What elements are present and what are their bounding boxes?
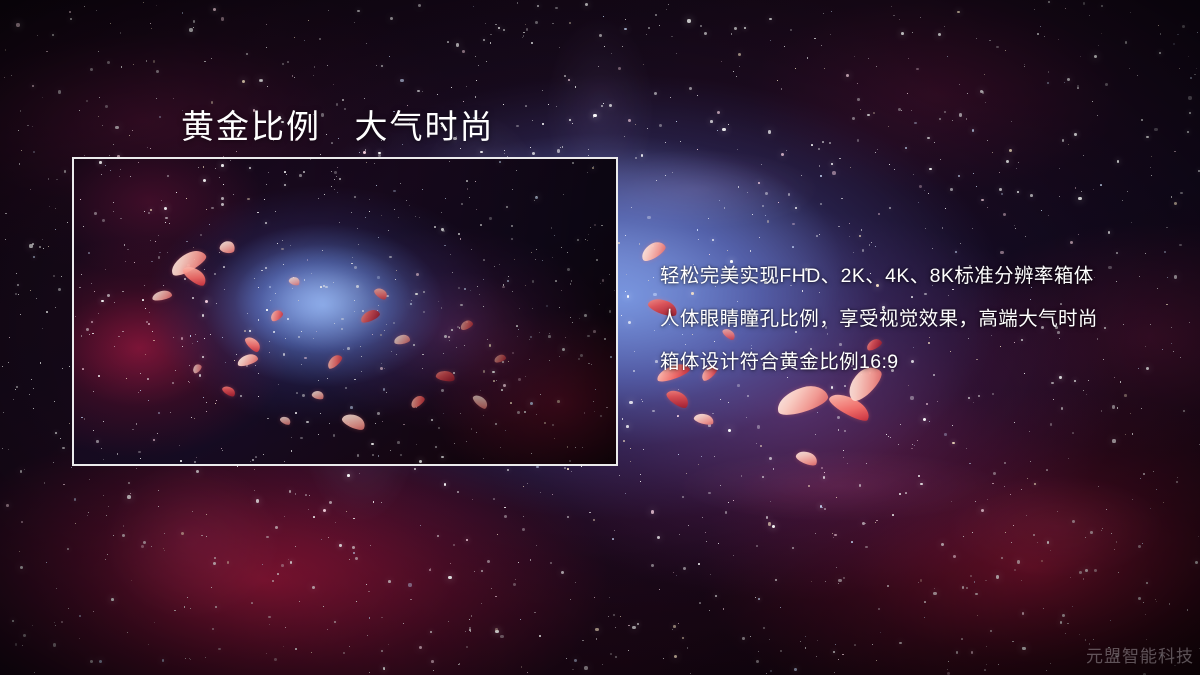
star <box>46 311 48 313</box>
star <box>635 124 636 125</box>
star <box>185 658 186 659</box>
star <box>663 658 664 659</box>
star <box>841 198 842 199</box>
star <box>814 38 815 39</box>
star <box>1199 444 1200 445</box>
star <box>542 123 543 124</box>
star <box>914 122 917 125</box>
star <box>818 148 820 150</box>
star <box>817 412 818 413</box>
star <box>1137 75 1138 76</box>
star <box>1075 187 1077 189</box>
star <box>19 551 20 552</box>
star <box>947 669 948 670</box>
star <box>668 4 669 5</box>
star <box>123 525 125 527</box>
star <box>313 516 315 518</box>
star <box>1015 228 1016 229</box>
star <box>1125 41 1128 44</box>
star <box>414 468 416 470</box>
star <box>575 86 577 88</box>
star <box>1198 170 1200 172</box>
star <box>521 666 523 668</box>
star <box>1166 227 1168 229</box>
star <box>629 401 632 404</box>
star <box>738 186 740 188</box>
star <box>593 116 595 118</box>
star <box>847 463 848 464</box>
star <box>381 617 383 619</box>
star <box>1017 191 1019 193</box>
star <box>32 126 33 127</box>
star <box>363 151 366 154</box>
star <box>865 523 866 524</box>
star <box>1029 431 1030 432</box>
star <box>347 474 350 477</box>
star <box>966 448 967 449</box>
star <box>29 244 32 247</box>
star <box>475 96 476 97</box>
star <box>723 608 725 610</box>
star <box>174 610 176 612</box>
preview-image-frame[interactable] <box>72 157 618 466</box>
star <box>996 46 998 48</box>
star <box>928 193 929 194</box>
star <box>24 469 25 470</box>
star <box>1125 434 1126 435</box>
star <box>786 150 787 151</box>
star <box>1097 115 1098 116</box>
star <box>737 384 740 387</box>
star <box>486 465 487 466</box>
star <box>925 228 926 229</box>
star <box>1041 210 1042 211</box>
star <box>969 463 971 465</box>
star <box>507 469 509 471</box>
star <box>595 628 599 632</box>
star <box>1130 413 1131 414</box>
star <box>1068 458 1069 459</box>
star <box>773 468 775 470</box>
star <box>323 509 326 512</box>
star <box>366 584 367 585</box>
star <box>98 116 99 117</box>
star <box>352 546 355 549</box>
body-line-3: 箱体设计符合黄金比例16:9 <box>660 341 1170 384</box>
star <box>39 246 41 248</box>
star <box>816 656 817 657</box>
star <box>1030 461 1031 462</box>
star <box>627 295 629 297</box>
star <box>493 498 495 500</box>
star <box>504 153 505 154</box>
star <box>295 648 297 650</box>
star <box>131 580 132 581</box>
star <box>410 599 411 600</box>
star <box>129 135 130 136</box>
star <box>1160 33 1162 35</box>
star <box>857 139 860 142</box>
star <box>875 152 876 153</box>
star <box>739 66 740 67</box>
star <box>1001 193 1003 195</box>
star <box>20 566 23 569</box>
star <box>1004 462 1005 463</box>
star <box>634 351 635 352</box>
star <box>215 606 218 609</box>
star <box>708 492 711 495</box>
star <box>1018 162 1019 163</box>
star <box>698 563 700 565</box>
star <box>829 142 831 144</box>
star <box>130 493 131 494</box>
star <box>701 456 702 457</box>
star <box>912 32 913 33</box>
star <box>854 56 855 57</box>
star <box>1004 486 1005 487</box>
star <box>22 645 23 646</box>
star <box>1189 112 1191 114</box>
star <box>457 491 459 493</box>
preview-shading-overlay <box>74 159 616 464</box>
star <box>831 11 832 12</box>
star <box>113 144 114 145</box>
star <box>642 401 643 402</box>
star <box>16 23 19 26</box>
star <box>1026 515 1027 516</box>
star <box>842 654 843 655</box>
star <box>599 34 602 37</box>
star <box>1146 136 1148 138</box>
star <box>619 475 620 476</box>
star <box>865 546 868 549</box>
star <box>973 402 974 403</box>
star <box>628 119 631 122</box>
star <box>653 277 654 278</box>
star <box>1138 597 1141 600</box>
star <box>697 229 698 230</box>
star <box>975 593 977 595</box>
star <box>400 79 403 82</box>
star <box>614 530 615 531</box>
star <box>314 66 315 67</box>
star <box>289 490 291 492</box>
star <box>815 533 816 534</box>
star <box>678 389 679 390</box>
star <box>824 472 825 473</box>
star <box>539 635 540 636</box>
star <box>889 164 890 165</box>
star <box>574 659 577 662</box>
star <box>75 523 76 524</box>
star <box>687 647 689 649</box>
star <box>429 569 431 571</box>
star <box>486 61 487 62</box>
star <box>876 660 877 661</box>
star <box>419 646 423 650</box>
star <box>1037 542 1038 543</box>
star <box>458 664 459 665</box>
star <box>615 627 616 628</box>
star <box>21 150 22 151</box>
star <box>272 580 274 582</box>
star <box>70 18 72 20</box>
star <box>816 235 819 238</box>
star <box>854 644 856 646</box>
star <box>688 525 689 526</box>
star <box>373 501 375 503</box>
star <box>8 362 9 363</box>
star <box>986 664 987 665</box>
star <box>283 646 284 647</box>
star <box>1171 343 1172 344</box>
star <box>548 104 549 105</box>
star <box>1014 225 1015 226</box>
star <box>648 27 650 29</box>
star <box>1171 327 1172 328</box>
star <box>898 108 901 111</box>
star <box>679 534 680 535</box>
star <box>189 28 192 31</box>
star <box>770 670 772 672</box>
star <box>193 27 194 28</box>
star <box>1077 85 1079 87</box>
star <box>602 664 603 665</box>
star <box>822 141 824 143</box>
star <box>720 399 721 400</box>
star <box>530 559 532 561</box>
star <box>655 14 657 16</box>
star <box>1065 633 1066 634</box>
star <box>107 554 108 555</box>
star <box>190 608 191 609</box>
star <box>588 149 589 150</box>
star <box>1047 541 1050 544</box>
star <box>898 444 899 445</box>
star <box>1163 502 1164 503</box>
star <box>819 165 821 167</box>
star <box>890 437 891 438</box>
star <box>285 627 286 628</box>
star <box>365 149 366 150</box>
star <box>567 468 569 470</box>
star <box>924 601 926 603</box>
star <box>800 641 801 642</box>
star <box>999 188 1002 191</box>
star <box>719 200 720 201</box>
star <box>5 213 7 215</box>
star <box>794 668 797 671</box>
star <box>33 256 35 258</box>
star <box>481 603 482 604</box>
star <box>559 47 560 48</box>
star <box>677 415 679 417</box>
star <box>671 36 673 38</box>
star <box>437 535 439 537</box>
star <box>914 445 915 446</box>
star <box>888 436 889 437</box>
star <box>287 61 288 62</box>
star <box>1174 202 1177 205</box>
star <box>15 293 17 295</box>
star <box>908 385 909 386</box>
star <box>1153 471 1154 472</box>
star <box>115 126 119 130</box>
star <box>724 207 726 209</box>
star <box>673 572 674 573</box>
star <box>1124 394 1127 397</box>
star <box>61 276 62 277</box>
star <box>319 38 321 40</box>
star <box>1177 34 1178 35</box>
star <box>744 27 746 29</box>
star <box>688 21 689 22</box>
star <box>759 237 760 238</box>
star <box>1179 244 1182 247</box>
star <box>910 396 913 399</box>
star <box>384 669 385 670</box>
star <box>755 597 756 598</box>
star <box>674 655 677 658</box>
star <box>30 290 31 291</box>
star <box>448 621 449 622</box>
star <box>734 27 737 30</box>
star <box>843 577 844 578</box>
star <box>308 509 309 510</box>
star <box>476 80 477 81</box>
star <box>999 172 1000 173</box>
star <box>811 581 812 582</box>
star <box>1037 33 1039 35</box>
star <box>747 395 750 398</box>
star <box>678 454 679 455</box>
star <box>221 17 225 21</box>
star <box>721 61 722 62</box>
star <box>918 202 919 203</box>
star <box>633 370 635 372</box>
star <box>1101 530 1102 531</box>
star <box>150 148 151 149</box>
star <box>924 190 925 191</box>
star <box>992 152 993 153</box>
star <box>651 564 654 567</box>
star <box>781 153 784 156</box>
star <box>469 629 471 631</box>
star <box>641 399 642 400</box>
star <box>1074 133 1076 135</box>
star <box>821 45 822 46</box>
star <box>339 544 341 546</box>
star <box>990 630 992 632</box>
star <box>1101 410 1102 411</box>
star <box>227 561 230 564</box>
star <box>1005 532 1006 533</box>
star <box>770 501 771 502</box>
star <box>99 660 102 663</box>
star <box>475 56 476 57</box>
star <box>354 22 355 23</box>
star <box>654 330 655 331</box>
company-watermark: 元盟智能科技 <box>1086 642 1194 667</box>
star <box>617 273 618 275</box>
star <box>676 121 677 122</box>
petal <box>664 386 691 411</box>
star <box>46 51 47 52</box>
star <box>431 660 434 663</box>
star <box>666 9 667 10</box>
star <box>256 499 259 502</box>
star <box>710 574 711 575</box>
star <box>150 23 151 24</box>
star <box>79 638 80 639</box>
star <box>962 586 964 588</box>
star <box>1022 647 1023 648</box>
star <box>938 33 941 36</box>
star <box>628 650 629 651</box>
star <box>620 616 621 617</box>
star <box>71 467 72 468</box>
star <box>516 125 519 128</box>
star <box>837 416 840 419</box>
star <box>838 579 841 582</box>
star <box>1118 572 1119 573</box>
star <box>1110 620 1111 621</box>
star <box>822 507 823 508</box>
star <box>206 514 207 515</box>
star <box>58 288 61 291</box>
star <box>1083 578 1085 580</box>
star <box>569 119 571 121</box>
star <box>733 555 734 556</box>
star <box>1083 2 1086 5</box>
star <box>750 636 751 637</box>
star <box>357 10 359 12</box>
star <box>355 557 358 560</box>
star <box>53 275 56 278</box>
star <box>146 60 148 62</box>
star <box>1014 422 1015 423</box>
star <box>281 564 284 567</box>
star <box>569 22 572 25</box>
star <box>379 153 380 154</box>
star <box>1072 606 1073 607</box>
star <box>976 186 977 187</box>
star <box>593 114 596 117</box>
star <box>151 28 152 29</box>
star <box>987 207 988 208</box>
star <box>48 178 49 179</box>
star <box>589 512 590 513</box>
star <box>156 5 157 6</box>
star <box>1093 189 1094 190</box>
star <box>859 484 862 487</box>
star <box>444 483 447 486</box>
star <box>657 243 658 244</box>
star <box>888 126 889 127</box>
star <box>491 588 492 589</box>
star <box>18 130 19 131</box>
star <box>584 666 588 670</box>
star <box>260 80 261 81</box>
star <box>294 37 295 38</box>
star <box>111 598 114 601</box>
star <box>1173 43 1175 45</box>
star <box>20 110 21 111</box>
star <box>60 438 61 439</box>
star <box>585 3 588 6</box>
star <box>269 624 270 625</box>
star <box>912 444 913 445</box>
